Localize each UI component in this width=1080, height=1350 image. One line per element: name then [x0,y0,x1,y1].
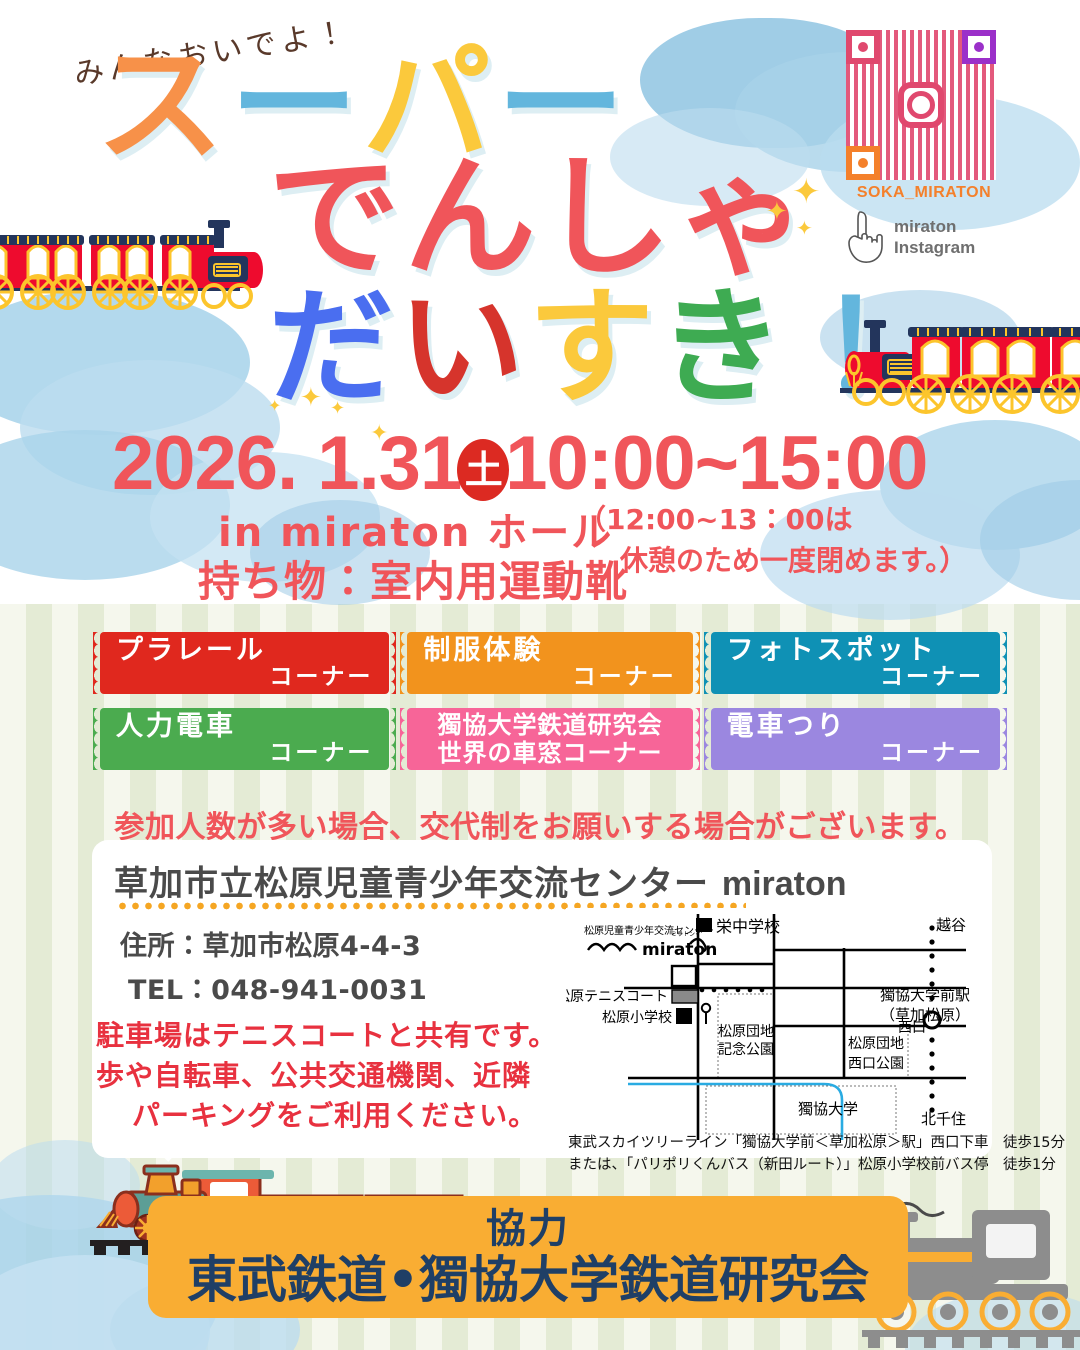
title-line-daisuki: だいすき！ [268,285,918,411]
map-label-elementary-school: 松原小学校 [602,1010,672,1026]
parking-line-1: 駐車場はテニスコートと共有です。 [96,1019,557,1052]
qr-code-image[interactable] [846,30,996,180]
facility-title: 草加市立松原児童青少年交流センター miraton [114,856,847,905]
instagram-caption-text: miraton Instagram [894,216,975,259]
caption-line-2: Instagram [894,237,975,258]
corner-tag-suffix: 世界の車窓コーナー [423,739,676,767]
pointing-hand-icon [846,208,888,266]
corner-tag-list: プラレール コーナー 制服体験 コーナー フォトスポット コーナー 人力電車 コ… [100,632,1000,784]
corner-tag-name: 人力電車 [116,713,373,741]
event-bring-items: 持ち物：室内用運動靴 [198,548,628,609]
access-line-1: 東武スカイツリーライン「獨協大学前＜草加松原＞駅」西口下車 徒歩15分 [568,1132,1065,1154]
corner-tag-suffix: コーナー [423,665,676,689]
event-time: 10:00~15:00 [505,421,927,506]
qr-finder-bottom-left [846,146,880,180]
facility-brand: miraton [722,865,847,903]
map-label-center-caption: 松原児童青少年交流センター [584,924,714,937]
break-note-line-1: （12:00~13：00は [578,503,853,536]
break-note-line-2: 休憩のため一度閉めます。） [578,541,967,582]
map-label-nishiguchi-park-1: 松原団地 [848,1036,904,1052]
access-map: miraton ミラトン 松原児童青少年交流センター 松原テニスコート 松原小学… [566,908,980,1144]
access-directions: 東武スカイツリーライン「獨協大学前＜草加松原＞駅」西口下車 徒歩15分 または、… [568,1132,1065,1176]
parking-line-3: パーキングをご利用ください。 [96,1096,616,1136]
miraton-marker-icon [672,966,696,986]
corner-tag-photospot[interactable]: フォトスポット コーナー [711,632,1000,694]
sponsor-banner: 協力 東武鉄道•獨協大学鉄道研究会 [148,1196,908,1318]
title-char: だ [268,274,398,421]
title-char: き [658,274,788,421]
day-of-week-badge: 土 [457,439,509,501]
parking-notice: 駐車場はテニスコートと共有です。 徒歩や自転車、公共交通機関、近隣 パーキングを… [96,1016,616,1135]
qr-finder-top-right [962,30,996,64]
title-char: ！ [788,274,918,421]
map-label-west-exit: 西口 [898,1020,926,1036]
title-line-densha: でんしゃ [268,152,812,284]
corner-tag-train-fishing[interactable]: 電車つり コーナー [711,708,1000,770]
map-label-north-terminus: 北千住 [921,1110,966,1128]
corner-tag-uniform[interactable]: 制服体験 コーナー [407,632,692,694]
map-label-south-terminus: 越谷 [936,916,966,934]
instagram-qr-block[interactable]: SOKA_MIRATON miraton Instagram [846,30,1002,266]
title-char: ス [96,31,230,180]
map-label-danchi-park-1: 松原団地 [718,1024,774,1040]
facility-info-card: 草加市立松原児童青少年交流センター miraton 住所：草加市松原4-4-3 … [92,840,992,1158]
event-date-time: 2026. 1.31土10:00~15:00 [112,420,927,507]
map-label-station: 獨協大学前駅 [880,986,970,1004]
map-label-tennis-court: 松原テニスコート [566,989,668,1005]
instagram-caption: miraton Instagram [846,208,1002,266]
map-label-danchi-park-2: 記念公園 [718,1042,774,1058]
corner-tag-suffix: コーナー [116,665,373,689]
title-char: い [398,274,528,421]
corner-tag-name: 電車つり [727,713,984,741]
tennis-court-marker-icon [672,990,698,1003]
corner-tag-suffix: コーナー [727,665,984,689]
elementary-school-marker-icon [676,1008,692,1024]
corner-tag-suffix: コーナー [116,741,373,765]
corner-tag-name: フォトスポット [727,637,984,665]
map-label-nishiguchi-park-2: 西口公園 [848,1056,904,1072]
corner-tag-name: 制服体験 [423,637,676,665]
map-label-university: 獨協大学 [798,1100,858,1118]
title-char: す [528,274,658,421]
instagram-handle: SOKA_MIRATON [846,184,1002,202]
sponsor-names: 東武鉄道•獨協大学鉄道研究会 [187,1255,869,1305]
corner-tag-suffix: コーナー [727,741,984,765]
qr-finder-top-left [846,30,880,64]
access-line-2: または、「パリポリくんバス（新田ルート）」松原小学校前バス停 徒歩1分 [568,1154,1065,1176]
facility-telephone: TEL：048-941-0031 [128,968,427,1007]
caption-line-1: miraton [894,216,975,237]
corner-tag-human-powered-train[interactable]: 人力電車 コーナー [100,708,389,770]
corner-tag-name: 獨協大学鉄道研究会 [423,711,676,739]
event-date: 2026. 1.31 [112,421,461,506]
poster-root: みんなおいでよ！ スーパー でんしゃ だいすき！ ✦ ✦ ✦ ✦ ✦ ✦ ✦ [0,0,1080,1350]
map-label-junior-high: 栄中学校 [716,917,780,936]
facility-title-text: 草加市立松原児童青少年交流センター [114,864,709,904]
corner-tag-row: 人力電車 コーナー 獨協大学鉄道研究会 世界の車窓コーナー 電車つり コーナー [100,708,1000,770]
sponsor-label: 協力 [486,1209,570,1249]
event-break-note: （12:00~13：00は 休憩のため一度閉めます。） [578,500,967,581]
title-text: でんしゃ [268,141,812,295]
instagram-icon [898,82,944,128]
corner-tag-dokkyo-railway-club[interactable]: 獨協大学鉄道研究会 世界の車窓コーナー [407,708,692,770]
access-map-svg: miraton ミラトン 松原児童青少年交流センター 松原テニスコート 松原小学… [566,908,980,1144]
facility-address: 住所：草加市松原4-4-3 [120,924,421,963]
corner-tag-row: プラレール コーナー 制服体験 コーナー フォトスポット コーナー [100,632,1000,694]
corner-tag-name: プラレール [116,637,373,665]
corner-tag-plarail[interactable]: プラレール コーナー [100,632,389,694]
